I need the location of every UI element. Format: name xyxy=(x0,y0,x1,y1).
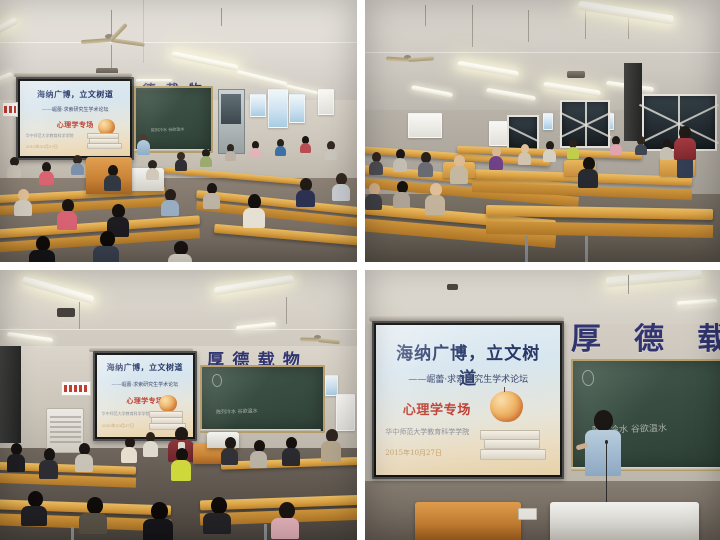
wall-poster xyxy=(268,89,288,128)
wall-poster xyxy=(336,394,356,431)
presentation-slide: 海纳广博，立文树道 ——崛蕾·求索研究生学术论坛 心理学专场 华中师范大学教育科… xyxy=(97,355,193,437)
wall-poster xyxy=(543,113,554,131)
classroom-rules-sign xyxy=(2,102,18,117)
books-graphic xyxy=(87,133,121,149)
window-curtain xyxy=(624,63,642,142)
projection-screen: 海纳广博，立文树道 ——崛蕾·求索研究生学术论坛 心理学专场 华中师范大学教育科… xyxy=(16,77,134,160)
wall-poster xyxy=(318,89,334,115)
chalkboard-writing: 陈列冷水 谷欲温水 xyxy=(216,407,258,415)
slide-title: 海纳广博，立文树道 xyxy=(103,362,187,373)
apple-graphic xyxy=(490,391,523,422)
wall-poster xyxy=(325,375,338,396)
photo-bottom-left: 厚 德 载 物 海纳广博，立文树道 ——崛蕾·求索研究生学术论坛 心理学专场 华… xyxy=(0,270,357,540)
banner-char: 厚 xyxy=(571,325,601,355)
window-curtain xyxy=(0,346,21,443)
projector xyxy=(57,308,75,317)
projector xyxy=(447,284,458,290)
slide-organization: 华中师范大学教育科学学院 xyxy=(102,411,150,417)
slide-subtitle: ——崛蕾·求索研究生学术论坛 xyxy=(29,106,122,113)
speaker xyxy=(585,410,621,476)
slide-subtitle: ——崛蕾·求索研究生学术论坛 xyxy=(104,381,185,388)
wall-poster xyxy=(408,113,442,139)
slide-date: 2015年10月27日 xyxy=(26,144,58,150)
slide-date: 2015年10月27日 xyxy=(102,423,134,429)
banner-char: 载 xyxy=(697,325,720,355)
presenter xyxy=(136,134,152,156)
apple-graphic xyxy=(159,395,177,412)
projector xyxy=(567,71,585,78)
presentation-slide: 海纳广博，立文树道 ——崛蕾·求索研究生学术论坛 心理学专场 华中师范大学教育科… xyxy=(20,81,130,156)
classroom-rules-sign xyxy=(61,381,92,397)
slide-organization: 华中师范大学教育科学学院 xyxy=(385,427,469,437)
wall-banner: 厚 德 载 xyxy=(571,321,720,359)
photo-top-left: 厚 德 载 物 海纳广博，立文树道 ——崛蕾·求索研究生学术论坛 心理学专场 华… xyxy=(0,0,357,262)
presentation-slide: 海纳广博，立文树道 ——崛蕾·求索研究生学术论坛 心理学专场 华中师范大学教育科… xyxy=(376,325,560,475)
blackboard: 陈列冷水 谷欲温水 xyxy=(200,365,325,434)
books-graphic xyxy=(480,430,546,460)
slide-title: 海纳广博，立文树道 xyxy=(27,89,124,100)
photo-bottom-right: 厚 德 载 海纳广博，立文树道 ——崛蕾·求索研究生学术论坛 心理学专场 华中师… xyxy=(365,270,720,540)
banner-char: 德 xyxy=(634,325,664,355)
slide-highlight: 心理学专场 xyxy=(383,399,490,418)
slide-organization: 华中师范大学教育科学学院 xyxy=(26,133,74,139)
slide-date: 2015年10月27日 xyxy=(385,448,442,458)
wall-poster xyxy=(289,94,305,122)
projection-screen: 海纳广博，立文树道 ——崛蕾·求索研究生学术论坛 心理学专场 华中师范大学教育科… xyxy=(372,321,564,479)
wall-poster xyxy=(250,94,266,117)
photo-collage: 厚 德 载 物 海纳广博，立文树道 ——崛蕾·求索研究生学术论坛 心理学专场 华… xyxy=(0,0,720,540)
microphone xyxy=(606,443,607,508)
standing-woman xyxy=(674,126,696,178)
slide-subtitle: ——崛蕾·求索研究生学术论坛 xyxy=(391,372,546,385)
lectern xyxy=(550,502,699,540)
wooden-podium xyxy=(415,502,522,540)
photo-top-right xyxy=(365,0,720,262)
apple-graphic xyxy=(98,119,115,135)
